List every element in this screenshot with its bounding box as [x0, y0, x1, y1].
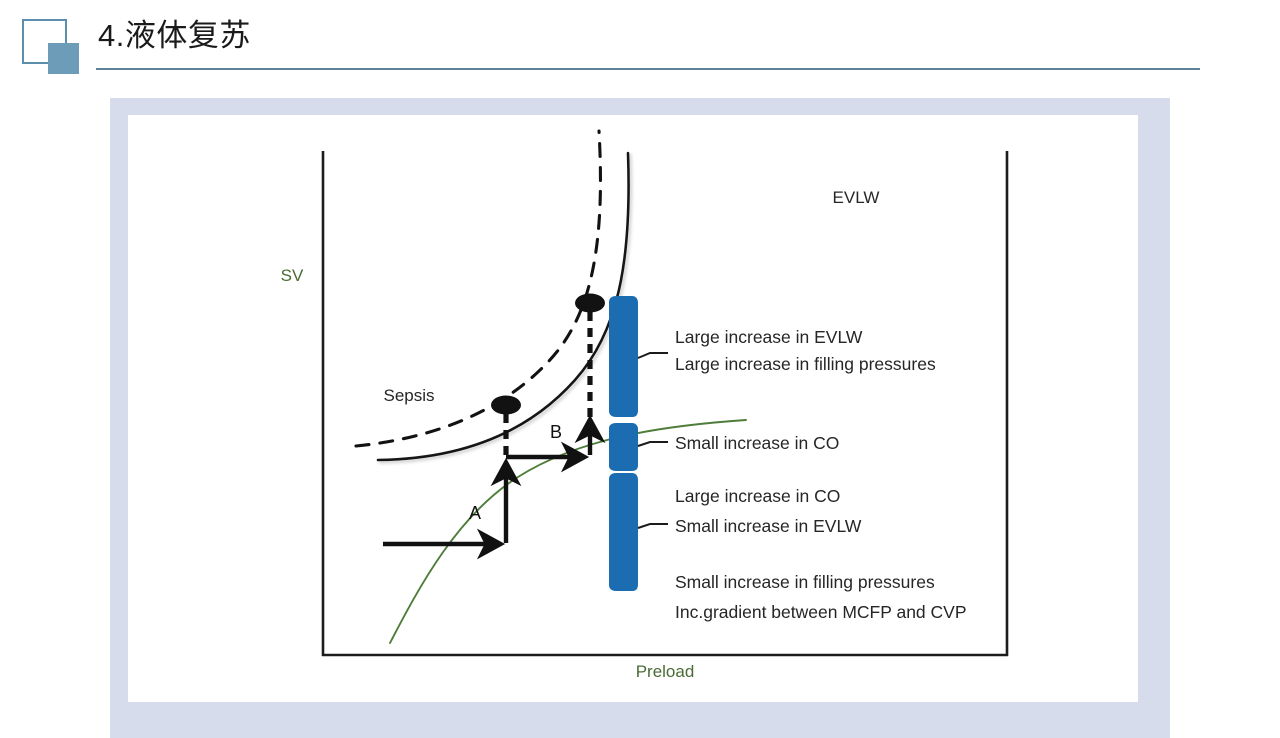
- brace-bottom-shape: [609, 473, 638, 591]
- x-axis-label: Preload: [636, 662, 695, 681]
- step-a-arrows: A: [383, 463, 506, 544]
- brace-bottom-leader: [638, 524, 668, 528]
- title-divider: [96, 68, 1200, 70]
- callout-bottom-line-2: Small increase in EVLW: [675, 516, 862, 536]
- operating-point-1: [491, 396, 521, 415]
- callout-footnote-line-2: Inc.gradient between MCFP and CVP: [675, 602, 967, 622]
- operating-point-2: [575, 294, 605, 313]
- callout-brace-bottom: [609, 473, 668, 591]
- callout-top-line-1: Large increase in EVLW: [675, 327, 863, 347]
- brace-top-leader: [638, 353, 668, 358]
- preload-sv-chart: SV Preload EVLW Sepsis: [128, 115, 1138, 702]
- callout-footnote-line-1: Small increase in filling pressures: [675, 572, 935, 592]
- step-b-label: B: [550, 422, 562, 442]
- title-decoration-icon: [22, 19, 80, 75]
- sepsis-label: Sepsis: [383, 386, 434, 405]
- brace-middle-leader: [638, 442, 668, 446]
- callout-bottom-line-1: Large increase in CO: [675, 486, 840, 506]
- brace-middle-shape: [609, 423, 638, 471]
- callout-brace-top: [609, 296, 668, 417]
- slide-header: 4.液体复苏: [0, 0, 1280, 80]
- step-a-label: A: [469, 503, 481, 523]
- figure-canvas: SV Preload EVLW Sepsis: [128, 115, 1138, 702]
- square-filled-icon: [48, 43, 79, 74]
- figure-frame: SV Preload EVLW Sepsis: [110, 98, 1170, 738]
- brace-top-shape: [609, 296, 638, 417]
- y-axis-label: SV: [281, 266, 304, 285]
- callout-middle-line-1: Small increase in CO: [675, 433, 839, 453]
- callout-top-line-2: Large increase in filling pressures: [675, 354, 936, 374]
- page-title: 4.液体复苏: [98, 14, 251, 58]
- evlw-annotation: EVLW: [833, 188, 880, 207]
